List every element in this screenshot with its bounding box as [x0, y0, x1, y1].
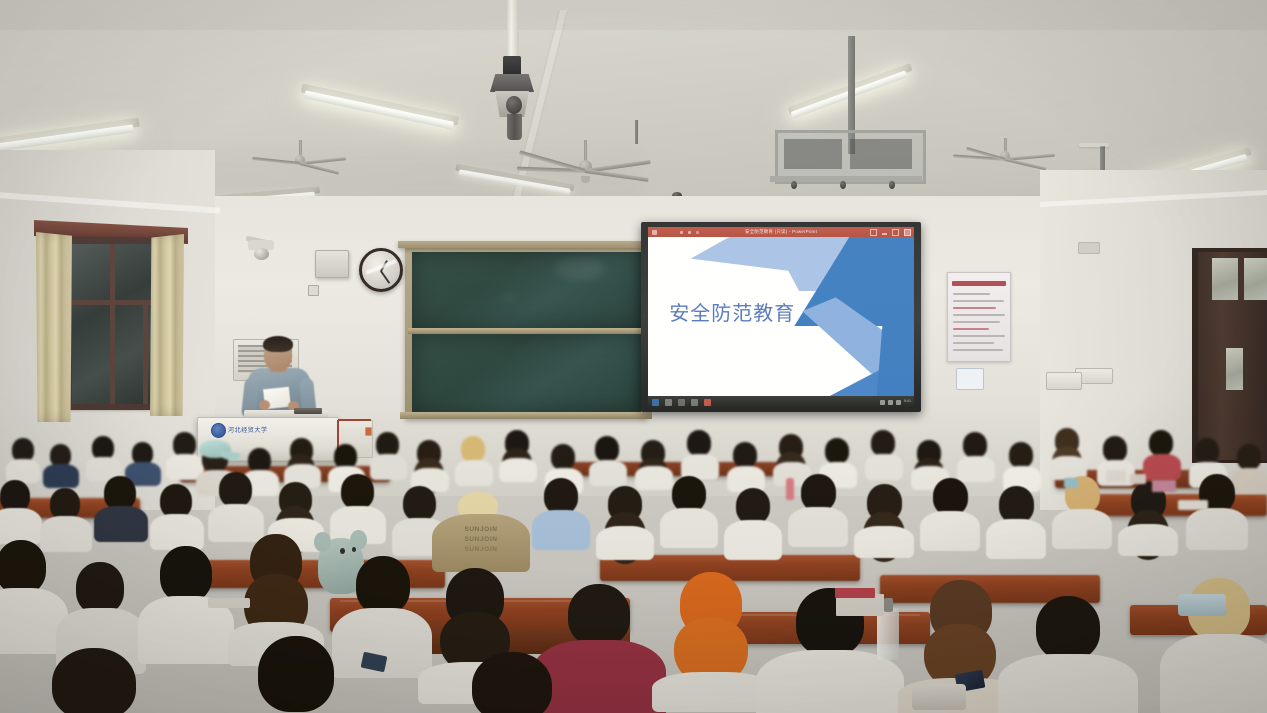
audience-person	[154, 484, 200, 546]
head	[871, 430, 895, 456]
head	[258, 636, 334, 712]
slide-canvas[interactable]: 安全防范教育	[648, 237, 914, 396]
head-blonde-hair	[461, 436, 485, 462]
head	[76, 562, 124, 614]
notebook	[1178, 500, 1208, 510]
head	[160, 546, 212, 602]
window-mullion-vertical	[143, 300, 148, 404]
window-mullion-vertical	[110, 244, 115, 404]
head	[1009, 442, 1033, 468]
powerpoint-titlebar: 安全防范教育 (只读) - PowerPoint	[648, 227, 914, 237]
poster-text-line	[953, 307, 996, 309]
plush-toy-eye	[340, 548, 345, 554]
audience-person	[238, 534, 314, 648]
close-icon[interactable]	[904, 229, 911, 236]
head	[568, 584, 630, 646]
body	[150, 514, 204, 550]
head	[0, 540, 46, 594]
projector-pole	[507, 0, 519, 62]
head	[1237, 444, 1261, 470]
start-button-icon[interactable]	[652, 399, 659, 406]
poster-text-line	[953, 349, 1003, 351]
poster-text-line	[953, 300, 1004, 302]
door-transom-glass	[1244, 258, 1267, 300]
tray-volume-icon[interactable]	[888, 400, 893, 405]
audience-person	[98, 476, 144, 538]
cage-hook	[791, 181, 797, 189]
head	[963, 432, 987, 458]
audience-person	[858, 484, 910, 556]
audience-person	[500, 430, 534, 478]
university-logo-icon	[211, 423, 226, 438]
wall-outlet	[308, 285, 319, 296]
head	[825, 438, 849, 464]
lecture-hall-photo: 安全防范教育 (只读) - PowerPoint 安全防范教育	[0, 0, 1267, 713]
body: SUNJOIN SUNJOIN SUNJOIN	[432, 514, 530, 572]
body	[986, 519, 1046, 559]
body	[1186, 508, 1248, 550]
podium-indicator	[365, 427, 372, 436]
audience-person	[924, 478, 976, 550]
head	[736, 488, 770, 524]
body	[1118, 524, 1178, 556]
audience-person	[958, 432, 992, 480]
head	[1195, 438, 1219, 464]
audience-person	[1144, 430, 1178, 478]
plush-toy-eye	[352, 547, 356, 552]
podium-keyboard	[294, 408, 322, 414]
poster-text-line	[953, 314, 1005, 316]
wall-bracket	[1078, 242, 1100, 254]
personal-item	[1064, 478, 1078, 488]
bottle-cap	[884, 598, 893, 612]
cage-window	[850, 139, 912, 169]
ceiling-shadow	[0, 0, 1267, 30]
body	[532, 510, 590, 550]
audience-person	[212, 472, 260, 538]
head	[687, 430, 711, 456]
wall-clock	[359, 248, 403, 292]
personal-item	[912, 684, 966, 710]
audience-person	[1122, 482, 1174, 554]
head	[52, 648, 136, 713]
audience-person	[990, 486, 1042, 558]
minimize-icon[interactable]	[882, 229, 887, 235]
tray-input-method-icon[interactable]	[896, 400, 901, 405]
head	[219, 472, 252, 507]
taskbar-browser-icon[interactable]	[691, 399, 698, 406]
notebook	[1106, 470, 1126, 482]
head	[933, 478, 968, 515]
audience-person-graphic-tee: SUNJOIN SUNJOIN SUNJOIN	[432, 492, 530, 570]
cage-hook	[889, 181, 895, 189]
podium-trim	[338, 419, 371, 421]
blackboard-glare	[555, 258, 605, 280]
blackboard-chalk-mark	[500, 293, 518, 303]
tray-network-icon[interactable]	[880, 400, 885, 405]
taskbar-powerpoint-icon[interactable]	[704, 399, 711, 406]
head	[341, 474, 374, 509]
taskbar-clock[interactable]: 9:41	[904, 400, 911, 404]
restore-icon[interactable]	[892, 229, 899, 236]
body	[499, 458, 537, 482]
poster-text-line	[953, 328, 989, 330]
audience-person	[728, 442, 762, 488]
audience-person	[28, 648, 158, 713]
head	[104, 476, 136, 510]
body	[788, 507, 848, 547]
audience-person	[88, 436, 118, 476]
audience-person	[1190, 474, 1244, 548]
head	[551, 444, 575, 470]
book	[835, 588, 875, 598]
audience-person	[664, 476, 714, 546]
head	[1036, 596, 1100, 660]
audience-person	[866, 430, 900, 478]
body	[596, 526, 654, 560]
taskbar-search-icon[interactable]	[665, 399, 672, 406]
audience-person	[792, 474, 844, 546]
poster-text-line	[953, 321, 1000, 323]
projector-lens	[506, 96, 522, 114]
ceiling-plate	[1079, 143, 1109, 147]
speaker-hand-left	[259, 400, 270, 410]
wall-speaker	[315, 250, 349, 278]
body	[1160, 634, 1267, 713]
system-tray[interactable]: 9:41	[880, 400, 911, 405]
audience-person	[372, 432, 404, 476]
curtain-left[interactable]	[36, 232, 72, 422]
body	[1143, 454, 1181, 480]
blackboard-top-rail	[398, 241, 650, 248]
audience-person	[536, 478, 586, 548]
audience-person	[0, 540, 58, 650]
head	[801, 474, 836, 511]
head	[544, 478, 578, 514]
audience-person	[590, 436, 624, 484]
projector-mount-box	[503, 56, 521, 76]
audience-person	[46, 444, 76, 484]
audience-person	[600, 486, 650, 556]
head	[1149, 430, 1173, 456]
audience-person	[8, 438, 38, 478]
audience-person	[1004, 442, 1038, 488]
blackboard-panel-lower	[412, 334, 641, 412]
curtain-right[interactable]	[150, 234, 184, 416]
speaker-hair	[263, 336, 293, 352]
poster-text-line	[953, 335, 1005, 337]
audience-person	[660, 572, 764, 702]
poster-text-line	[953, 342, 994, 344]
podium-university-name: 河北经贸大学	[228, 425, 268, 434]
head	[1103, 436, 1127, 462]
body	[589, 460, 627, 486]
door-vision-panel	[1226, 348, 1243, 390]
audience-person	[236, 636, 356, 713]
head	[733, 442, 757, 468]
body	[455, 460, 493, 486]
blackboard-panel-upper	[412, 252, 641, 328]
poster-text-line	[953, 293, 990, 295]
audience-person	[682, 430, 716, 478]
pencil-case	[1178, 594, 1226, 616]
audience-person	[456, 436, 490, 484]
window-controls[interactable]	[870, 229, 911, 236]
body	[854, 526, 914, 558]
taskbar-explorer-icon[interactable]	[678, 399, 685, 406]
audience-person	[1050, 428, 1084, 476]
projector-barrel	[507, 114, 522, 140]
shirt-graphic-text: SUNJOIN	[432, 546, 530, 553]
body	[660, 508, 718, 548]
clock-minute-hand	[380, 270, 390, 283]
audience-person	[728, 488, 778, 558]
shirt-graphic-text: SUNJOIN	[432, 536, 530, 543]
head	[472, 652, 552, 713]
shirt-graphic-text: SUNJOIN	[432, 526, 530, 533]
personal-item	[1130, 474, 1146, 484]
body	[998, 654, 1138, 713]
body	[1052, 509, 1112, 549]
projection-screen[interactable]: 安全防范教育 (只读) - PowerPoint 安全防范教育	[648, 227, 914, 408]
body	[920, 511, 980, 551]
windows-taskbar[interactable]: 9:41	[648, 396, 914, 408]
slide-title-text: 安全防范教育	[669, 297, 795, 326]
dome-camera-icon	[254, 248, 269, 260]
audience-person	[1010, 596, 1126, 713]
body	[0, 508, 42, 544]
wall-plate	[1046, 372, 1082, 390]
head	[672, 476, 706, 512]
cage-hook	[840, 181, 846, 189]
paper-sheet	[208, 598, 250, 608]
head	[160, 484, 192, 518]
body	[43, 464, 79, 488]
fan-rod	[1004, 138, 1007, 152]
body	[94, 506, 148, 542]
fan-cap	[581, 176, 590, 183]
book	[1152, 480, 1176, 492]
ribbon-display-options-icon[interactable]	[870, 229, 877, 236]
audience-person	[0, 480, 38, 540]
ceiling-hanger	[635, 120, 638, 144]
audience-person	[286, 438, 318, 482]
fan-rod	[299, 140, 302, 156]
head	[999, 486, 1034, 523]
water-bottle	[786, 478, 794, 500]
door-transom-glass	[1212, 258, 1238, 300]
projector-bracket	[490, 74, 534, 92]
plush-toy-ear	[314, 532, 331, 552]
audience-person	[412, 440, 446, 486]
wall-notice-small	[956, 368, 984, 390]
cage-window	[784, 139, 842, 169]
poster-header	[952, 281, 1007, 286]
audience-person	[44, 488, 88, 548]
head	[595, 436, 619, 462]
fan-rod	[584, 140, 587, 162]
body	[724, 520, 782, 560]
body	[865, 454, 903, 480]
notice-poster	[947, 272, 1011, 362]
head	[356, 556, 410, 614]
audience-person	[452, 652, 572, 713]
blackboard-chalk-tray	[400, 412, 652, 419]
